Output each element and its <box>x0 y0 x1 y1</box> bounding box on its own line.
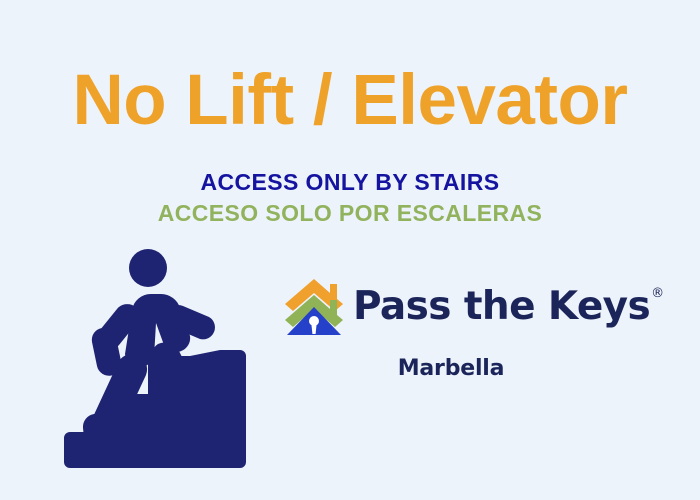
brand-block: Pass the Keys ® Marbella <box>283 276 643 391</box>
brand-wordmark-wrap: Pass the Keys ® <box>353 285 664 329</box>
brand-city-label: Marbella <box>283 356 619 382</box>
pass-the-keys-logo-icon <box>283 277 345 337</box>
registered-trademark-icon: ® <box>651 287 664 300</box>
subtitle-spanish: ACCESO SOLO POR ESCALERAS <box>0 200 700 227</box>
brand-wordmark: Pass the Keys <box>353 285 650 329</box>
page-title: No Lift / Elevator <box>0 62 700 140</box>
subtitle-english: ACCESS ONLY BY STAIRS <box>0 169 700 196</box>
person-climbing-stairs-icon <box>60 240 260 470</box>
brand-row: Pass the Keys ® <box>283 276 664 338</box>
poster-canvas: No Lift / Elevator ACCESS ONLY BY STAIRS… <box>0 0 700 500</box>
